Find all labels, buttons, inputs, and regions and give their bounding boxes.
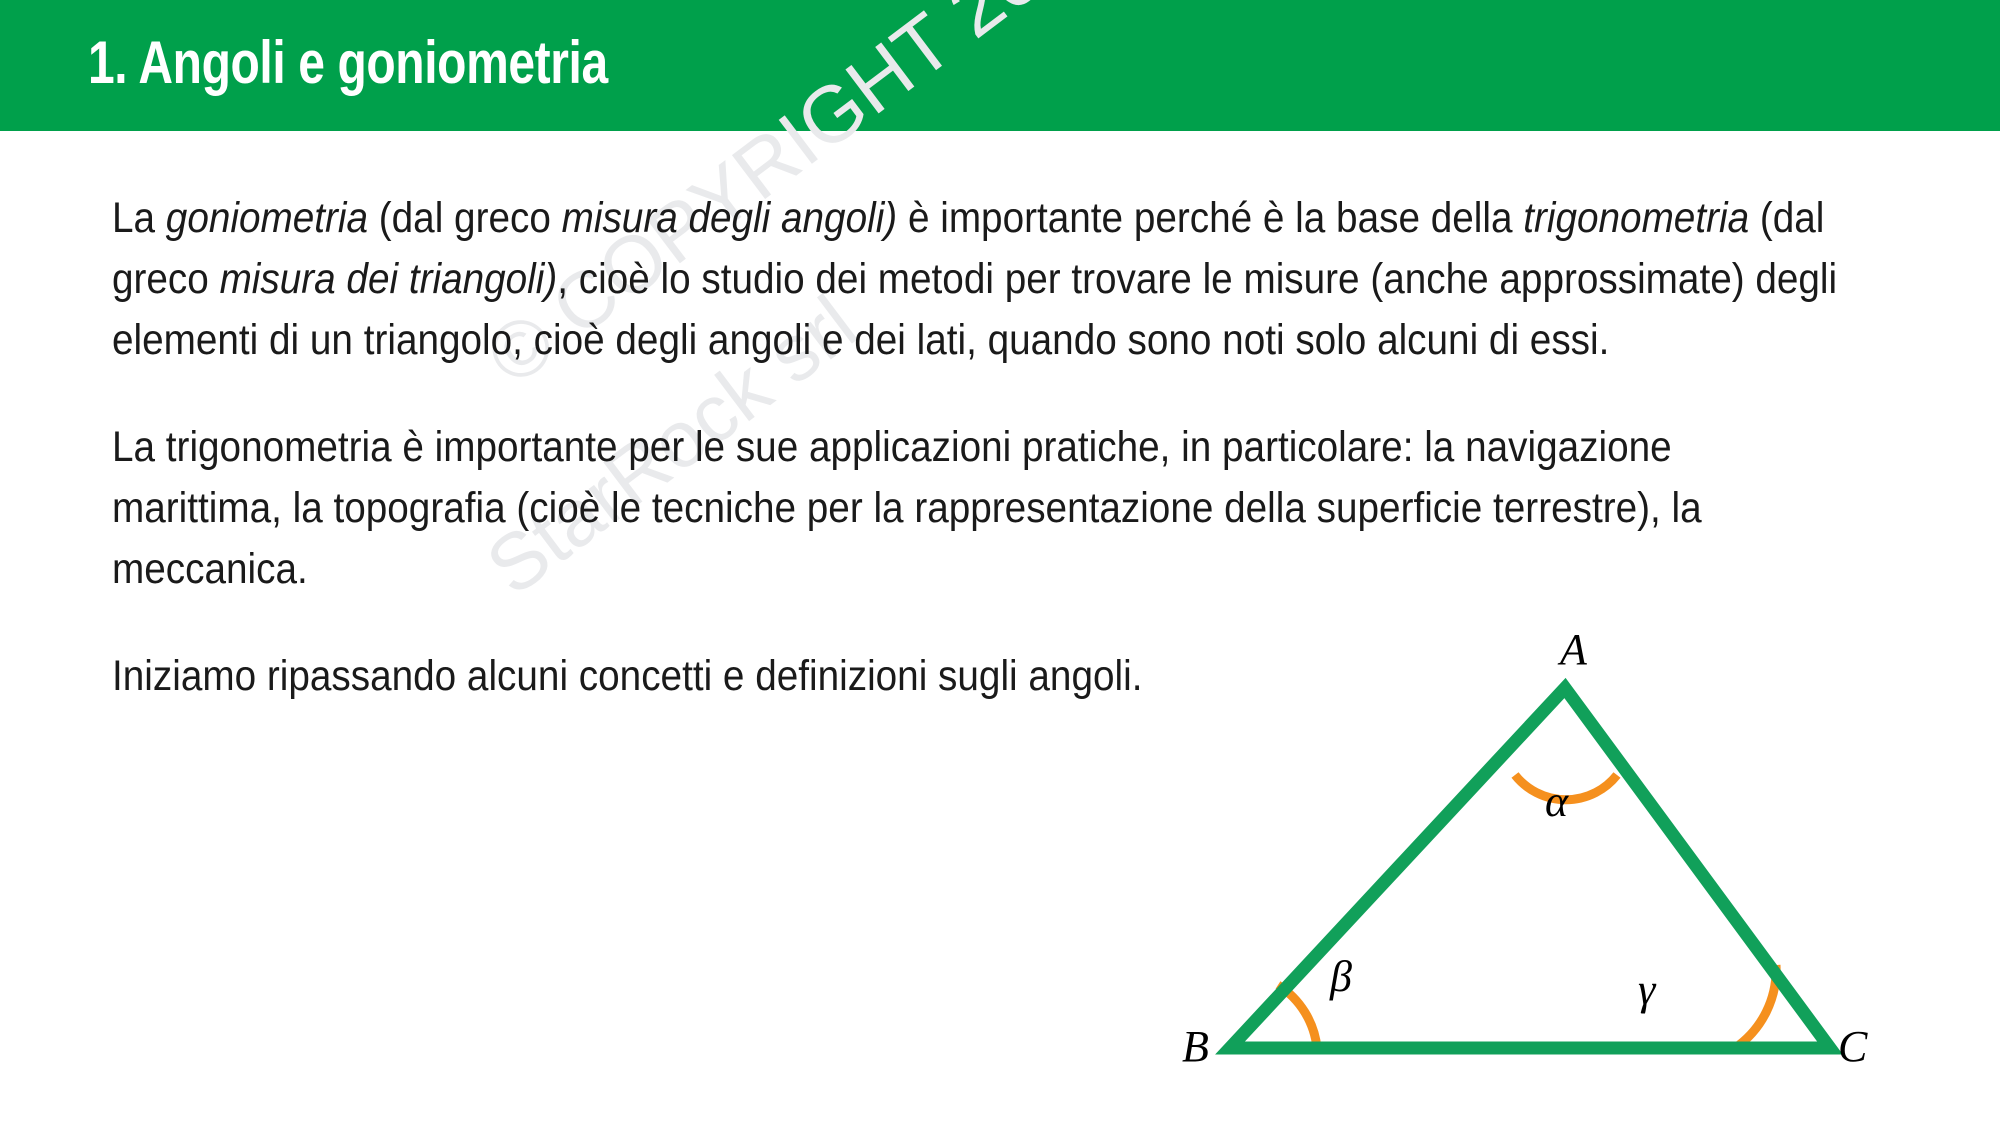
vertex-label-c: C <box>1838 1025 1867 1069</box>
paragraph-goniometria: La goniometria (dal greco misura degli a… <box>112 188 1850 371</box>
paragraph-applicazioni: La trigonometria è importante per le sue… <box>112 417 1850 600</box>
angle-label-gamma: γ <box>1638 968 1655 1012</box>
p1-em-trigonometria: trigonometria <box>1523 194 1749 242</box>
p1-em-misura-angoli: misura degli angoli) <box>562 194 898 242</box>
triangle-diagram <box>1130 600 1930 1100</box>
triangle-figure: A B C α β γ <box>1130 600 1930 1100</box>
angle-label-alpha: α <box>1545 780 1568 824</box>
triangle-outline <box>1230 688 1830 1048</box>
angle-label-beta: β <box>1330 955 1352 999</box>
page-title: 1. Angoli e goniometria <box>88 24 608 102</box>
angle-arc-gamma <box>1735 965 1776 1048</box>
p1-em-goniometria: goniometria <box>166 194 368 242</box>
p1-part3: è importante perché è la base della <box>897 194 1523 242</box>
header-bar: 1. Angoli e goniometria <box>0 0 2000 131</box>
p1-part2: (dal greco <box>368 194 562 242</box>
vertex-label-b: B <box>1182 1025 1209 1069</box>
vertex-label-a: A <box>1560 628 1587 672</box>
p1-part1: La <box>112 194 166 242</box>
p1-em-misura-triangoli: misura dei triangoli) <box>220 255 558 303</box>
slide-canvas: 1. Angoli e goniometria © COPYRIGHT 2015… <box>0 0 2000 1125</box>
